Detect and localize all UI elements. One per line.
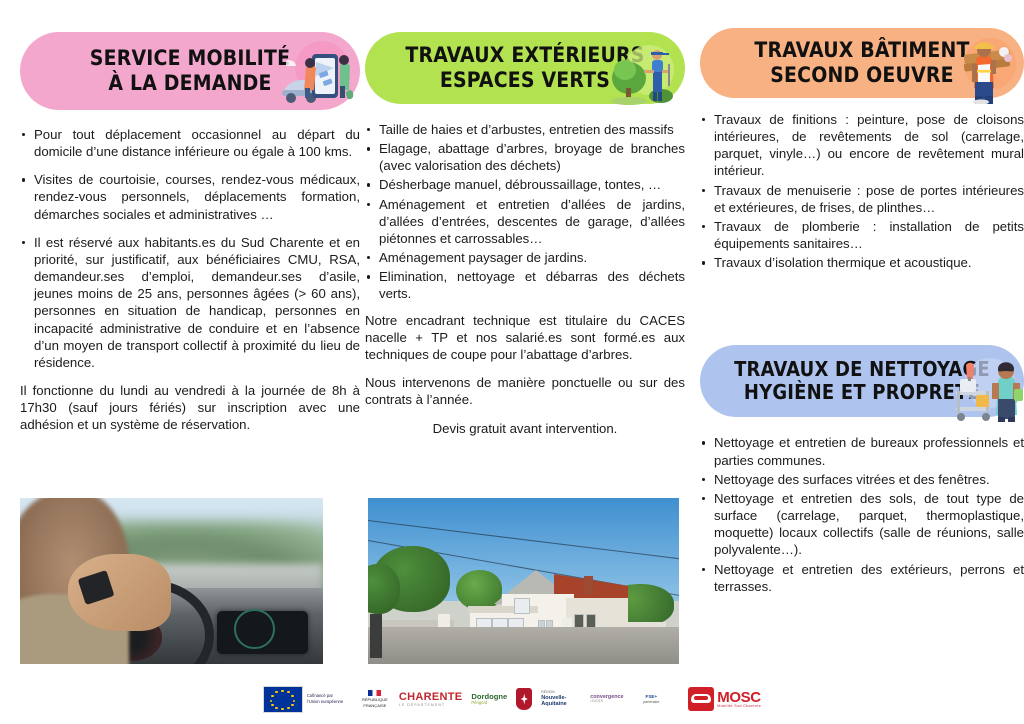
column-travaux-batiment-nettoyage: TRAVAUX BÂTIMENT SECOND OEUVRE (700, 0, 1024, 724)
dordogne-sub: Périgord (471, 701, 507, 705)
nouvelle-aquitaine-logo: RÉGION Nouvelle-Aquitaine (541, 686, 581, 712)
section-header-service-mobilite: SERVICE MOBILITÉ À LA DEMANDE (20, 32, 360, 110)
mosc-mark-icon (688, 687, 714, 711)
partner-sub: partenaire (643, 700, 659, 704)
section-header-travaux-batiment: TRAVAUX BÂTIMENT SECOND OEUVRE (700, 28, 1024, 98)
mosc-logo: MOSC Mobilité Sud Charente (688, 686, 761, 712)
section-title-travaux-exterieurs: TRAVAUX EXTÉRIEURS ESPACES VERTS (405, 43, 644, 93)
brochure-page: SERVICE MOBILITÉ À LA DEMANDE (0, 0, 1024, 724)
charente-logo: CHARENTE LE DÉPARTEMENT (399, 686, 463, 712)
mosc-sub: Mobilité Sud Charente (717, 705, 761, 709)
bullet-list-travaux-nettoyage: Nettoyage et entretien de bureaux profes… (700, 434, 1024, 594)
list-item: Aménagement et entretien d’allées de jar… (365, 196, 685, 247)
list-item: Elimination, nettoyage et débarras des d… (365, 268, 685, 302)
list-item: Travaux d’isolation thermique et acousti… (700, 254, 1024, 271)
column-travaux-exterieurs: TRAVAUX EXTÉRIEURS ESPACES VERTS (365, 0, 685, 724)
french-republic-label: RÉPUBLIQUE FRANÇAISE (362, 697, 388, 708)
dordogne-perigord-logo: Dordogne Périgord (471, 686, 507, 712)
list-item: Taille de haies et d’arbustes, entretien… (365, 121, 685, 138)
nouvelle-aquitaine-label: Nouvelle-Aquitaine (541, 695, 566, 707)
list-item: Nettoyage et entretien des sols, de tout… (700, 490, 1024, 559)
list-item: Nettoyage et entretien des extérieurs, p… (700, 561, 1024, 595)
section-title-service-mobilite: SERVICE MOBILITÉ À LA DEMANDE (90, 46, 290, 96)
section-header-travaux-exterieurs: TRAVAUX EXTÉRIEURS ESPACES VERTS (365, 32, 685, 104)
list-item: Travaux de finitions : peinture, pose de… (700, 111, 1024, 180)
list-item: Travaux de plomberie : installation de p… (700, 218, 1024, 252)
shield-icon (516, 688, 532, 710)
list-item: Désherbage manuel, débroussaillage, tont… (365, 176, 685, 193)
paragraph-devis: Devis gratuit avant intervention. (365, 420, 685, 437)
charente-sub: LE DÉPARTEMENT (399, 703, 463, 707)
french-flag-icon (368, 690, 381, 696)
list-item: Nettoyage des surfaces vitrées et des fe… (700, 471, 1024, 488)
convergence-logo: convergence LEADER (590, 686, 634, 712)
eu-logo-caption: Cofinancé par l’Union européenne (307, 693, 351, 706)
blason-logo (516, 686, 532, 712)
section-body-travaux-nettoyage: Nettoyage et entretien de bureaux profes… (700, 434, 1024, 594)
paragraph: Il fonctionne du lundi au vendredi à la … (20, 382, 360, 433)
building-exterior-photo (368, 498, 679, 664)
paragraph: Nous intervenons de manière ponctuelle o… (365, 374, 685, 408)
list-item: Aménagement paysager de jardins. (365, 249, 685, 266)
driver-steering-wheel-photo (20, 498, 323, 664)
section-body-travaux-batiment: Travaux de finitions : peinture, pose de… (700, 111, 1024, 271)
section-body-travaux-exterieurs: Taille de haies et d’arbustes, entretien… (365, 121, 685, 438)
list-item: Elagage, abattage d’arbres, broyage de b… (365, 140, 685, 174)
paragraph: Notre encadrant technique est titulaire … (365, 312, 685, 363)
list-item: Nettoyage et entretien de bureaux profes… (700, 434, 1024, 468)
section-title-travaux-nettoyage: TRAVAUX DE NETTOYAGE HYGIÈNE ET PROPRETÉ (734, 358, 990, 405)
list-item: Pour tout déplacement occasionnel au dép… (20, 126, 360, 160)
section-body-service-mobilite: Pour tout déplacement occasionnel au dép… (20, 126, 360, 434)
charente-label: CHARENTE (399, 691, 463, 703)
list-item: Il est réservé aux habitants.es du Sud C… (20, 234, 360, 371)
bullet-list-travaux-exterieurs: Taille de haies et d’arbustes, entretien… (365, 121, 685, 303)
footer-logo-bar: Cofinancé par l’Union européenne RÉPUBLI… (0, 678, 1024, 720)
list-item: Travaux de menuiserie : pose de portes i… (700, 182, 1024, 216)
list-item: Visites de courtoisie, courses, rendez-v… (20, 171, 360, 222)
bullet-list-travaux-batiment: Travaux de finitions : peinture, pose de… (700, 111, 1024, 271)
convergence-sub: LEADER (590, 700, 623, 704)
section-title-travaux-batiment: TRAVAUX BÂTIMENT SECOND OEUVRE (754, 38, 969, 88)
section-header-travaux-nettoyage: TRAVAUX DE NETTOYAGE HYGIÈNE ET PROPRETÉ (700, 345, 1024, 417)
partner-logo: FSE+ partenaire (643, 686, 679, 712)
french-republic-logo: RÉPUBLIQUE FRANÇAISE (360, 686, 390, 712)
european-union-logo: Cofinancé par l’Union européenne (263, 686, 351, 712)
column-service-mobilite: SERVICE MOBILITÉ À LA DEMANDE (20, 0, 360, 724)
bullet-list-service-mobilite: Pour tout déplacement occasionnel au dép… (20, 126, 360, 371)
eu-flag-icon (263, 686, 303, 713)
